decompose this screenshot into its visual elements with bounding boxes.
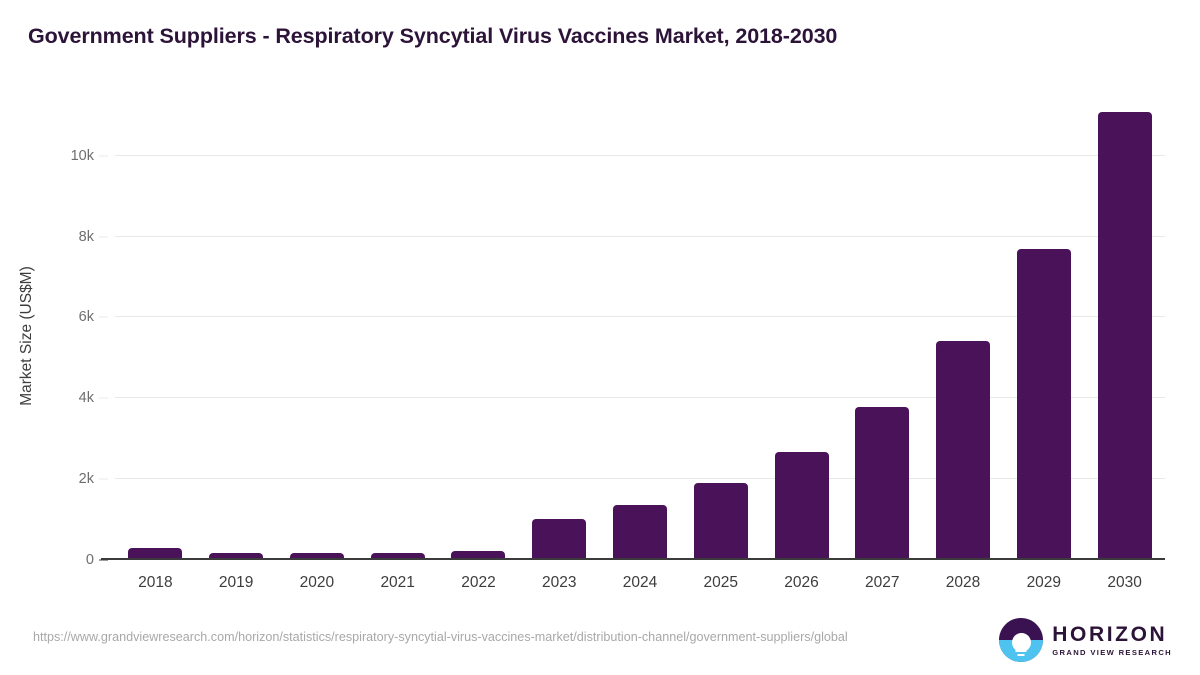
x-axis-tick-label: 2024 [600,568,681,598]
bar-2025[interactable] [694,483,748,560]
bar-slot [600,95,681,560]
bar-series [115,95,1165,560]
bar-slot [1003,95,1084,560]
bar-2029[interactable] [1017,249,1071,560]
source-url[interactable]: https://www.grandviewresearch.com/horizo… [33,628,928,646]
bar-slot [196,95,277,560]
x-axis-tick-label: 2021 [357,568,438,598]
bar-slot [1084,95,1165,560]
bar-2024[interactable] [613,505,667,560]
x-axis-tick-label: 2023 [519,568,600,598]
bar-slot [277,95,358,560]
y-axis-tick-mark [99,317,108,318]
y-axis-tick-label: 4k [79,390,94,406]
horizon-logo-icon [999,618,1043,662]
y-axis-tick-mark [99,398,108,399]
bar-2030[interactable] [1098,112,1152,560]
logo-ray-1 [1014,646,1029,648]
y-axis-tick-labels: 02k4k6k8k10k [0,95,108,560]
bar-slot [761,95,842,560]
y-axis-tick-label: 6k [79,309,94,325]
bar-2027[interactable] [855,407,909,560]
x-axis-tick-label: 2028 [923,568,1004,598]
x-axis-line [101,558,1165,560]
bar-slot [438,95,519,560]
logo-wordmark: HORIZON [1052,624,1172,645]
x-axis-tick-label: 2022 [438,568,519,598]
x-axis-tick-label: 2020 [277,568,358,598]
x-axis-tick-label: 2018 [115,568,196,598]
chart-page: Government Suppliers - Respiratory Syncy… [0,0,1200,675]
y-axis-tick-mark [99,479,108,480]
x-axis-tick-label: 2029 [1003,568,1084,598]
y-axis-tick-mark [99,155,108,156]
x-axis-tick-label: 2025 [680,568,761,598]
bar-slot [115,95,196,560]
y-axis-tick-label: 2k [79,471,94,487]
x-axis-tick-label: 2027 [842,568,923,598]
logo-text: HORIZON GRAND VIEW RESEARCH [1052,624,1172,657]
x-axis-tick-label: 2030 [1084,568,1165,598]
bar-2026[interactable] [775,452,829,560]
y-axis-tick-mark [99,236,108,237]
x-axis-tick-label: 2019 [196,568,277,598]
logo-ray-3 [1018,654,1025,656]
bar-slot [680,95,761,560]
y-axis-tick-label: 8k [79,229,94,245]
logo-ray-2 [1016,650,1027,652]
logo-subtitle: GRAND VIEW RESEARCH [1052,649,1172,657]
y-axis-tick-label: 0 [86,552,94,568]
logo-sun-shape [1012,633,1031,652]
x-axis-tick-label: 2026 [761,568,842,598]
y-axis-tick-label: 10k [71,148,94,164]
bar-slot [842,95,923,560]
bar-2028[interactable] [936,341,990,560]
bar-slot [357,95,438,560]
horizon-logo: HORIZON GRAND VIEW RESEARCH [999,618,1172,662]
bar-slot [923,95,1004,560]
x-axis-tick-labels: 2018201920202021202220232024202520262027… [115,568,1165,598]
page-title: Government Suppliers - Respiratory Syncy… [28,24,837,49]
bar-slot [519,95,600,560]
bar-2023[interactable] [532,519,586,560]
plot-area [115,95,1165,560]
